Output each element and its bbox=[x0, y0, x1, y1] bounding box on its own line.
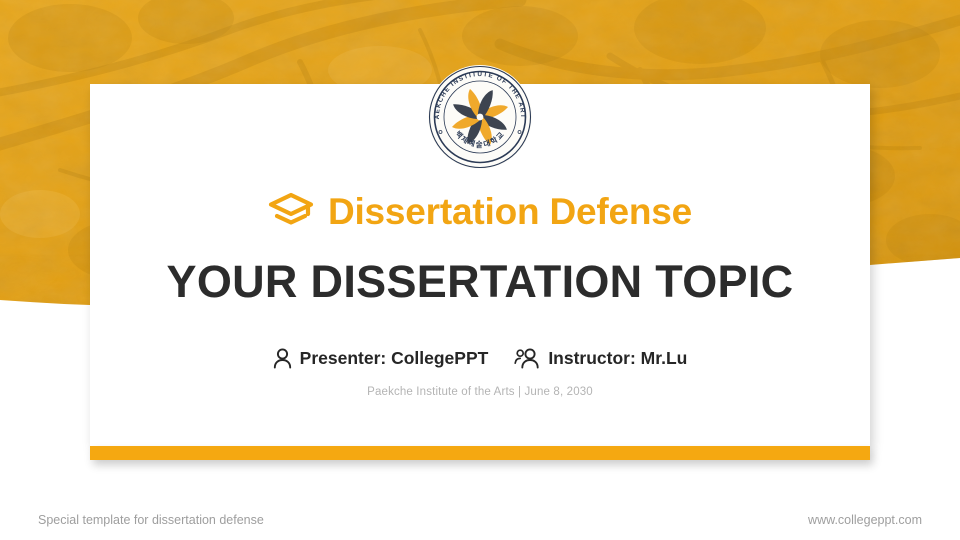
presentation-slide: PAEKCHE INSTITUTE OF THE ARTS 백제예술대학교 Di… bbox=[0, 0, 960, 540]
eyebrow-label: Dissertation Defense bbox=[328, 193, 692, 230]
footer-left-text: Special template for dissertation defens… bbox=[38, 513, 264, 527]
card-accent-bar bbox=[90, 446, 870, 460]
instructor-credit: Instructor: Mr.Lu bbox=[514, 348, 687, 369]
instructor-label: Instructor: Mr.Lu bbox=[548, 348, 687, 369]
paekche-institute-seal-logo: PAEKCHE INSTITUTE OF THE ARTS 백제예술대학교 bbox=[427, 64, 533, 170]
presenter-label: Presenter: CollegePPT bbox=[300, 348, 489, 369]
graduation-cap-icon bbox=[268, 192, 314, 231]
page-title: YOUR DISSERTATION TOPIC bbox=[0, 256, 960, 308]
people-icon bbox=[514, 348, 540, 369]
seal-icon: PAEKCHE INSTITUTE OF THE ARTS 백제예술대학교 bbox=[427, 64, 533, 170]
credits-row: Presenter: CollegePPT Instructor: Mr.Lu bbox=[0, 348, 960, 369]
footer-right-url: www.collegeppt.com bbox=[808, 513, 922, 527]
eyebrow-title: Dissertation Defense bbox=[0, 192, 960, 231]
person-icon bbox=[273, 348, 292, 369]
presenter-credit: Presenter: CollegePPT bbox=[273, 348, 489, 369]
institute-date-meta: Paekche Institute of the Arts | June 8, … bbox=[0, 386, 960, 398]
